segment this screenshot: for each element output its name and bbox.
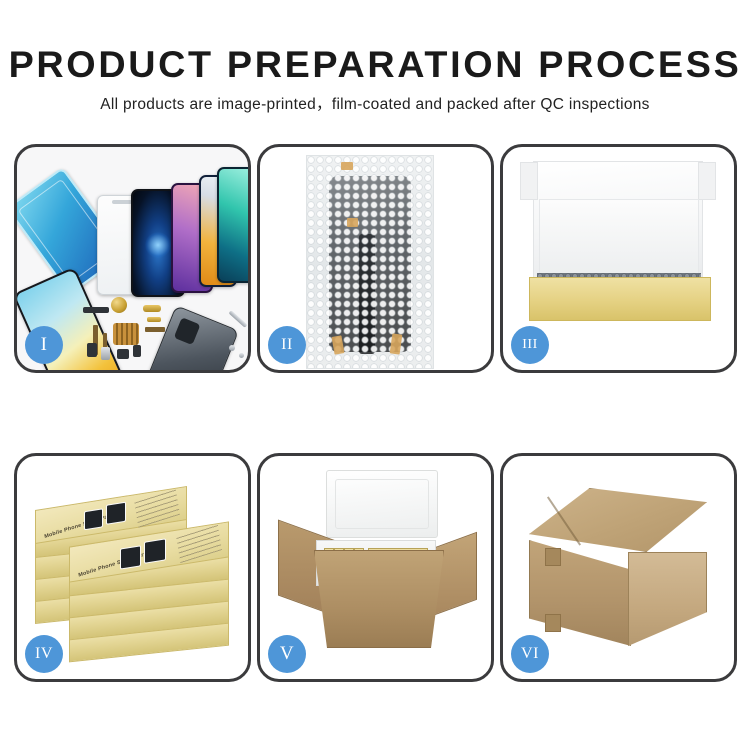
step-badge-5: V bbox=[268, 635, 306, 673]
spare-part-tweezers bbox=[228, 310, 247, 328]
spare-part-module-a bbox=[87, 343, 97, 357]
white-foam-sheet bbox=[539, 199, 699, 279]
carton-tape-upper bbox=[545, 548, 561, 566]
carton-top-face bbox=[529, 488, 707, 552]
process-step-3: III bbox=[500, 144, 737, 373]
spare-part-module-b bbox=[101, 347, 110, 360]
spare-part-coin bbox=[111, 297, 127, 313]
foam-lid-open bbox=[326, 470, 438, 538]
carton-body bbox=[314, 550, 444, 648]
spare-part-module-c bbox=[117, 349, 129, 359]
spare-part-screw-b bbox=[239, 353, 244, 358]
step-badge-4: IV bbox=[25, 635, 63, 673]
process-step-2: II bbox=[257, 144, 494, 373]
bubble-texture bbox=[307, 156, 433, 368]
retail-box-text-block-a bbox=[134, 488, 180, 528]
step-badge-6: VI bbox=[511, 635, 549, 673]
process-step-6: VI bbox=[500, 453, 737, 682]
page-title: PRODUCT PREPARATION PROCESS bbox=[0, 0, 750, 86]
process-step-grid: I II bbox=[14, 144, 736, 682]
retail-box-window-a2 bbox=[106, 502, 126, 525]
process-step-1: I bbox=[14, 144, 251, 373]
header: PRODUCT PREPARATION PROCESS All products… bbox=[0, 0, 750, 114]
process-step-4: Mobile Phone Spare Parts Mobile Phone Sp… bbox=[14, 453, 251, 682]
retail-box-window-a1 bbox=[84, 508, 103, 530]
step-badge-2: II bbox=[268, 326, 306, 364]
spare-part-screw-a bbox=[229, 345, 235, 351]
phone-back-housing bbox=[147, 305, 239, 370]
spare-part-gold-clip bbox=[147, 317, 161, 322]
spare-part-module-d bbox=[133, 345, 141, 357]
step-badge-3: III bbox=[511, 326, 549, 364]
retail-box-stack: Mobile Phone Spare Parts Mobile Phone Sp… bbox=[33, 482, 229, 658]
retail-box-text-block-b bbox=[176, 523, 222, 563]
kraft-box-tray bbox=[529, 277, 711, 321]
phone-teal-gradient bbox=[217, 167, 248, 283]
page-subtitle: All products are image-printed，film-coat… bbox=[0, 86, 750, 114]
step-badge-1: I bbox=[25, 326, 63, 364]
retail-box-window-b1 bbox=[120, 545, 141, 569]
process-step-5: V bbox=[257, 453, 494, 682]
spare-part-chip-array bbox=[113, 323, 139, 345]
spare-part-flex-cable-c bbox=[145, 327, 165, 332]
spare-part-speaker bbox=[83, 307, 109, 313]
bag-tape-middle bbox=[347, 218, 358, 227]
carton-side-face bbox=[628, 552, 707, 646]
product-preparation-infographic: PRODUCT PREPARATION PROCESS All products… bbox=[0, 0, 750, 750]
carton-tape-lower bbox=[545, 614, 561, 632]
retail-box-window-b2 bbox=[144, 538, 166, 563]
spare-part-gold-flex bbox=[143, 305, 161, 312]
bag-tape-top bbox=[341, 162, 353, 170]
bubble-wrap-bag bbox=[306, 155, 434, 369]
